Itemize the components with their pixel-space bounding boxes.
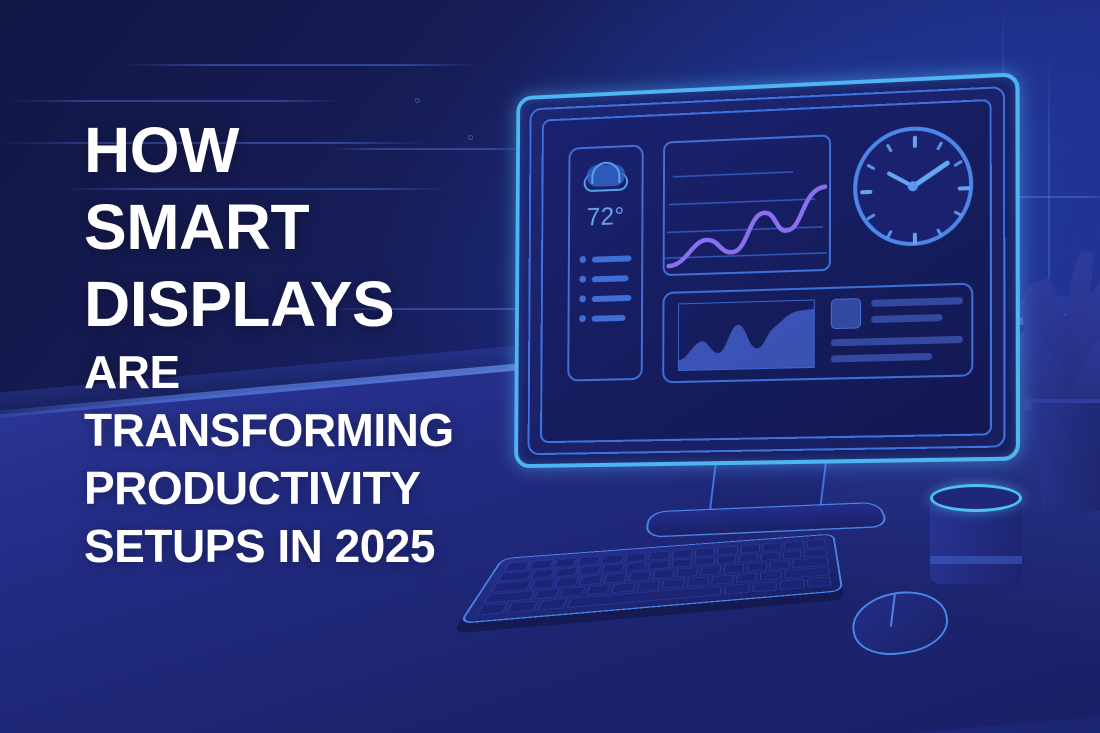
- weather-list: [569, 254, 641, 335]
- text-line: [831, 336, 963, 346]
- speaker-seam: [930, 556, 1022, 564]
- list-bar: [592, 294, 632, 301]
- list-item: [579, 254, 631, 263]
- bullet-dot: [579, 315, 586, 322]
- list-bar: [592, 275, 629, 282]
- hero-banner: 72°: [0, 0, 1100, 733]
- clock-widget[interactable]: [853, 124, 973, 248]
- headline-line-6: PRODUCTIVITY: [84, 465, 554, 511]
- line-chart-widget[interactable]: [663, 134, 831, 276]
- headline-line-5: TRANSFORMING: [84, 407, 554, 453]
- weather-widget[interactable]: 72°: [567, 144, 643, 381]
- clock-center-pin: [908, 181, 918, 191]
- mouse-button-split: [890, 593, 896, 627]
- area-chart: [678, 299, 815, 371]
- clock-face: [853, 124, 973, 248]
- wall-line: [120, 64, 480, 66]
- speaker-light-ring: [930, 484, 1022, 512]
- smart-speaker[interactable]: [930, 484, 1022, 596]
- list-item: [579, 274, 631, 283]
- headline-line-7: SETUPS IN 2025: [84, 523, 554, 569]
- wall-line: [10, 100, 340, 102]
- bullet-dot: [579, 256, 586, 263]
- text-line: [871, 314, 942, 323]
- bottom-panel-widget[interactable]: [662, 283, 973, 384]
- bullet-dot: [579, 295, 586, 302]
- trend-line-chart: [665, 136, 832, 276]
- smart-display-monitor[interactable]: 72°: [508, 84, 1016, 464]
- headline-line-4: ARE: [84, 349, 554, 395]
- temperature-value: 72°: [587, 202, 625, 232]
- wall-dot: [415, 98, 420, 103]
- headline-line-1: HOW: [84, 118, 554, 182]
- text-line: [831, 353, 932, 363]
- monitor-screen[interactable]: 72°: [540, 99, 992, 443]
- cloud-icon: [584, 161, 628, 192]
- headline-line-3: DISPLAYS: [84, 272, 554, 336]
- list-bar: [592, 314, 626, 321]
- bullet-dot: [579, 276, 586, 283]
- list-item: [579, 294, 631, 302]
- thumbnail-tile: [831, 298, 861, 329]
- text-line: [871, 297, 963, 307]
- list-bar: [592, 255, 632, 262]
- list-item: [579, 314, 631, 322]
- page-title: HOW SMART DISPLAYS ARE TRANSFORMING PROD…: [84, 118, 554, 581]
- headline-line-2: SMART: [84, 195, 554, 259]
